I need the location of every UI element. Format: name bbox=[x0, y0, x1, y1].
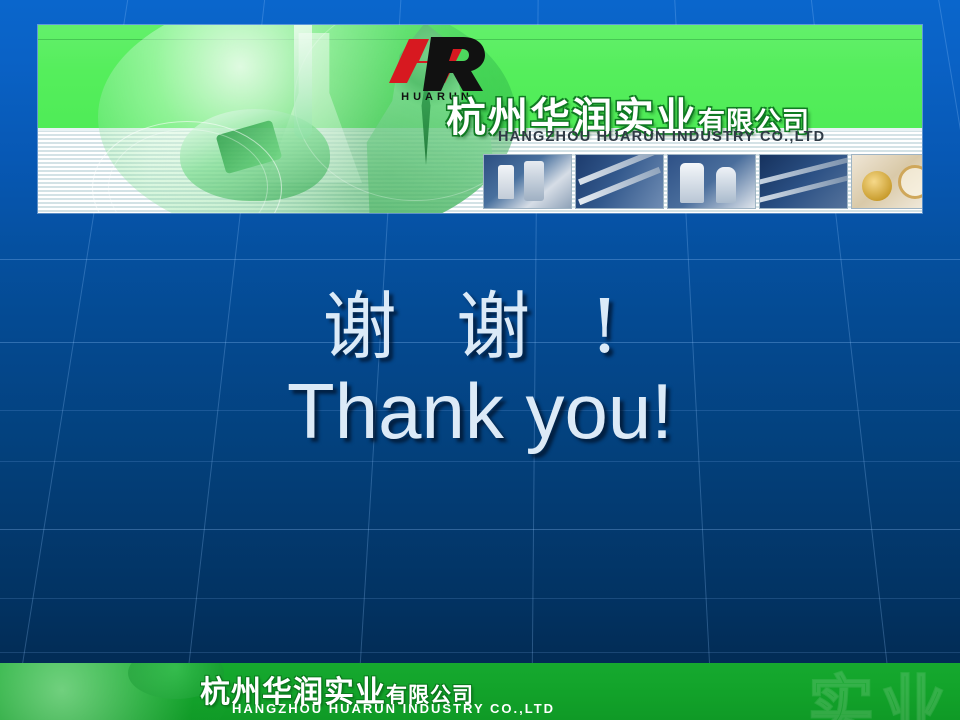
thank-you-chinese: 谢 谢 ! bbox=[0, 286, 960, 369]
thank-you-english: Thank you! bbox=[0, 371, 960, 453]
banner-company-name-en: HANGZHOU HUARUN INDUSTRY CO.,LTD bbox=[498, 129, 825, 145]
product-photo-amber-glass-jars bbox=[851, 154, 922, 209]
slide-footer: 实业 杭州华润实业有限公司 HANGZHOU HUARUN INDUSTRY C… bbox=[0, 663, 960, 720]
footer-company-name-en: HANGZHOU HUARUN INDUSTRY CO.,LTD bbox=[232, 701, 555, 716]
product-photo-prefilled-syringes bbox=[759, 154, 848, 209]
product-photo-syringe-assembly-line bbox=[575, 154, 664, 209]
company-header-banner: HUARUN 杭州华润实业有限公司 HANGZHOU HUARUN INDUST… bbox=[38, 25, 922, 213]
slide-body: 谢 谢 ! Thank you! bbox=[0, 286, 960, 453]
product-photo-spray-bottles bbox=[483, 154, 572, 209]
presentation-slide: HUARUN 杭州华润实业有限公司 HANGZHOU HUARUN INDUST… bbox=[0, 0, 960, 720]
product-photo-strip bbox=[483, 154, 922, 207]
product-photo-plastic-dropper-bottles bbox=[667, 154, 756, 209]
footer-watermark-text: 实业 bbox=[808, 663, 952, 720]
